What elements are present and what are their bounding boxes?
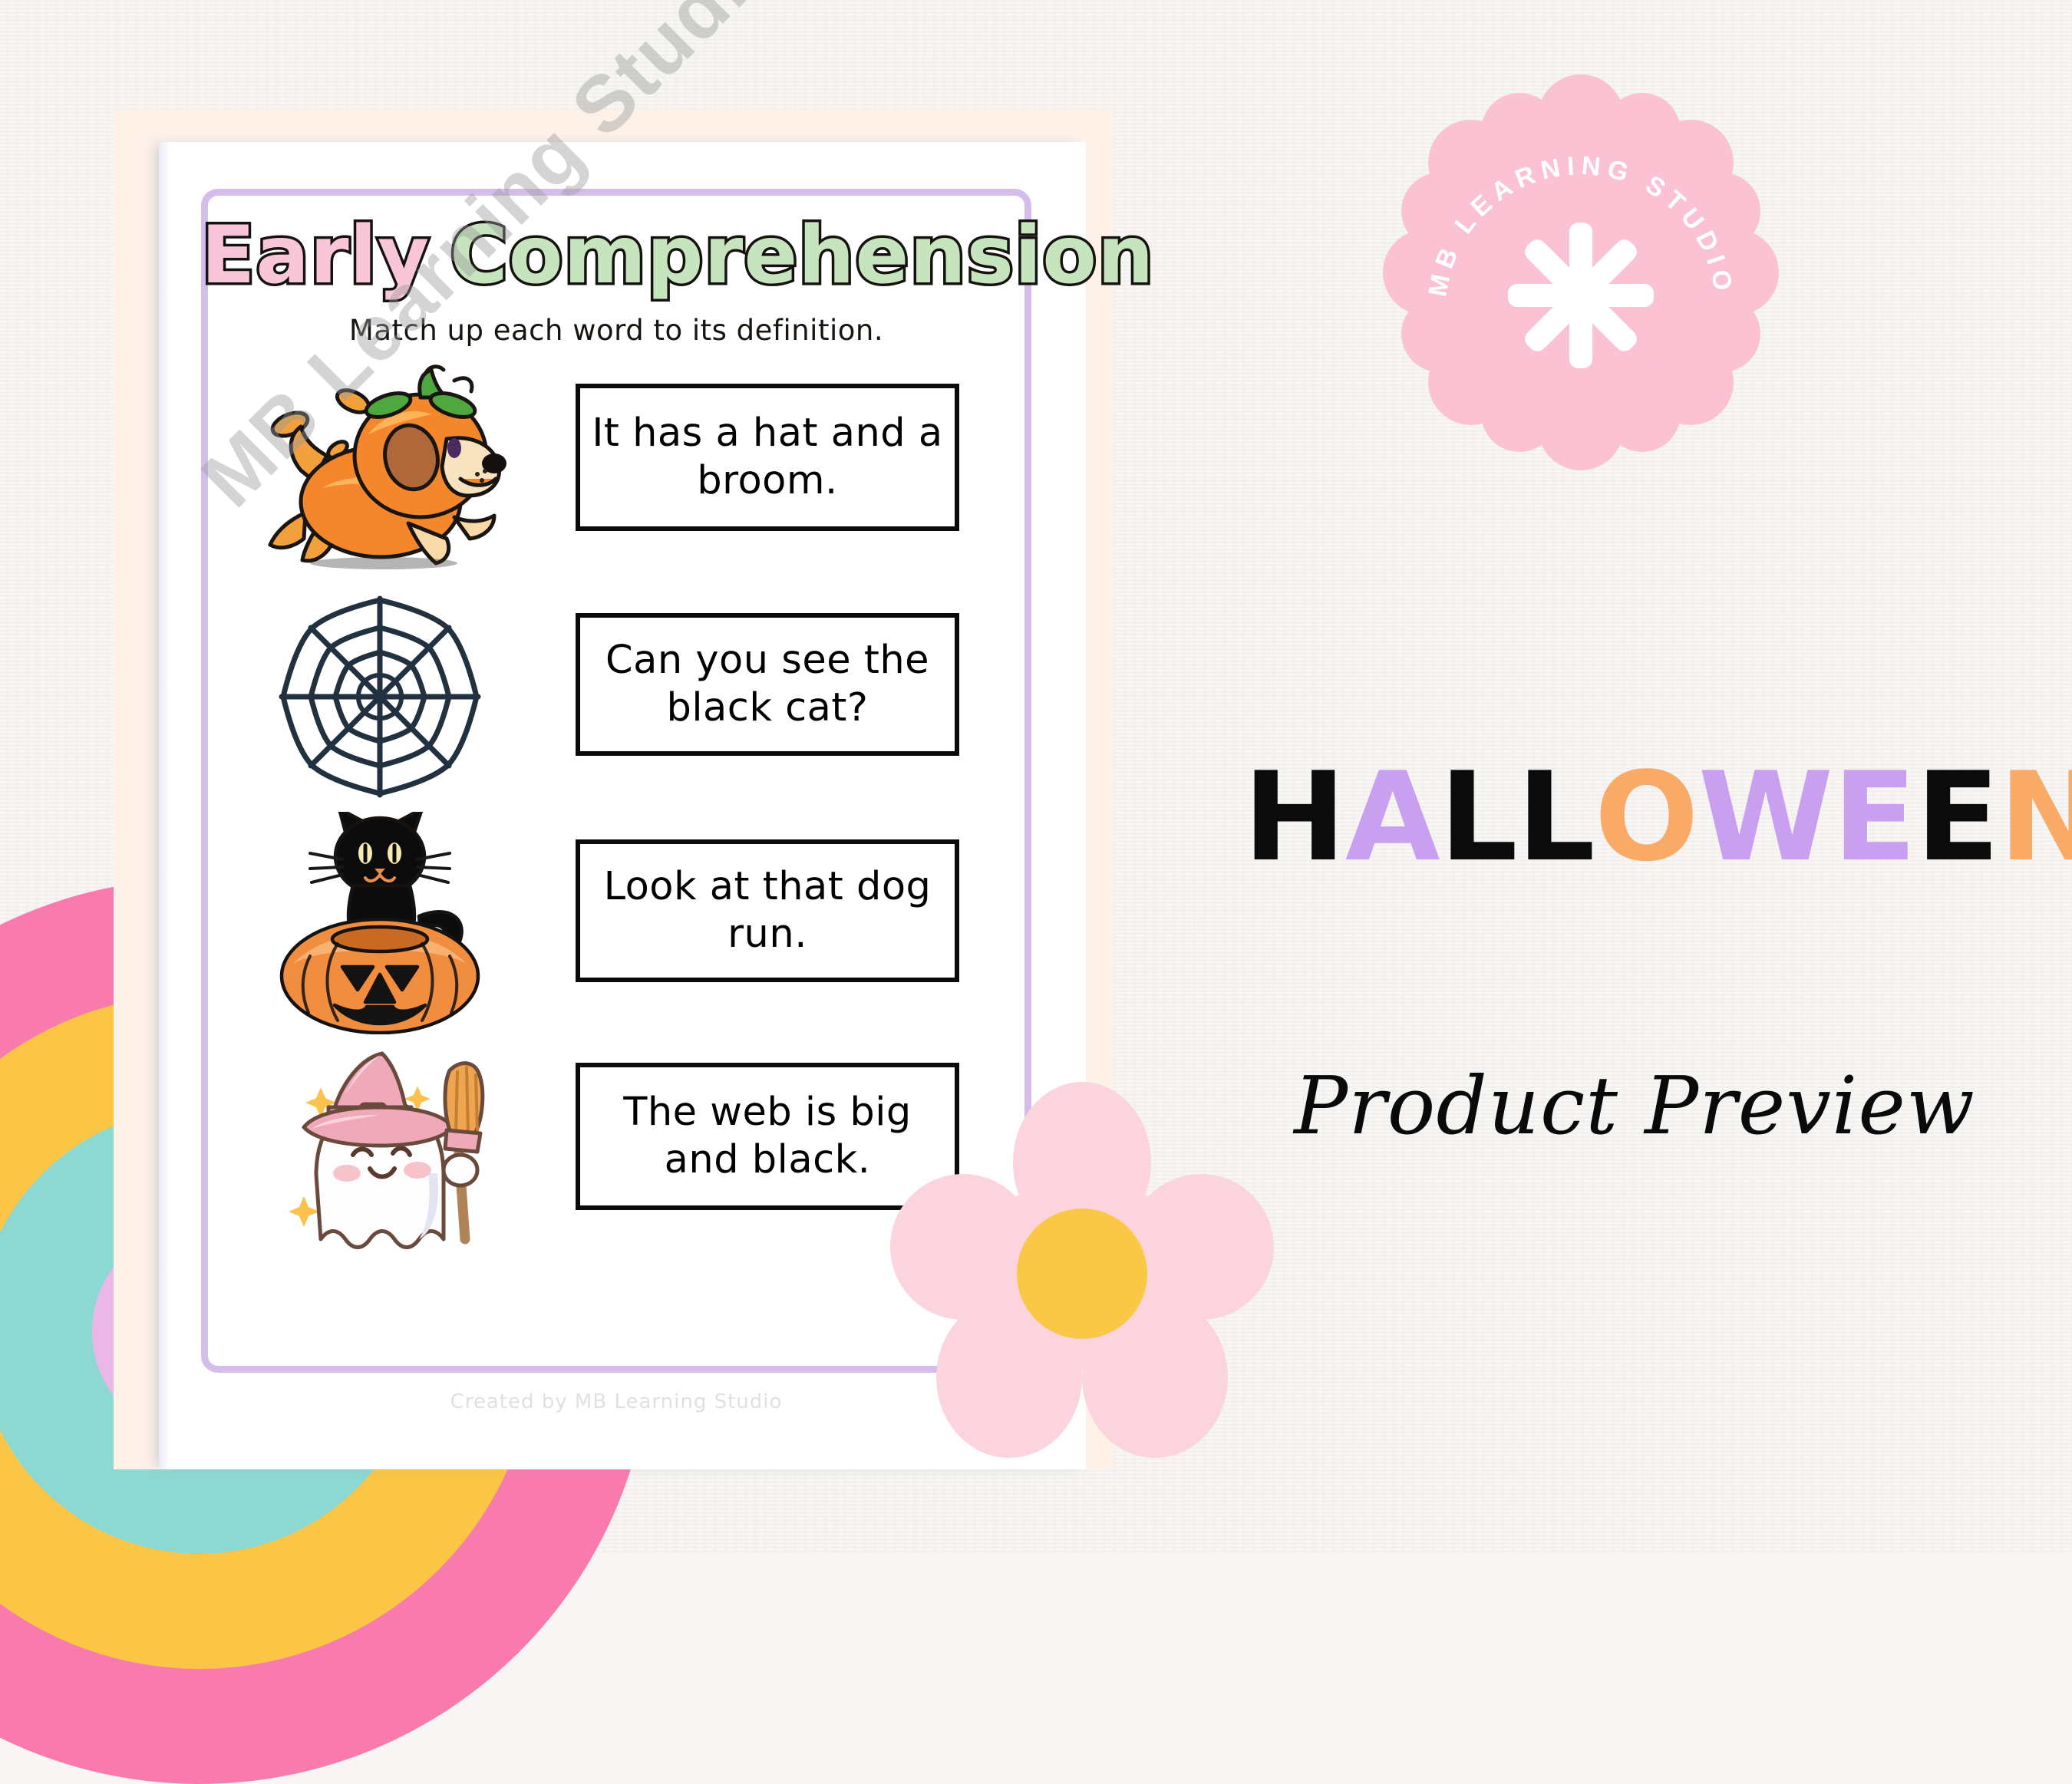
page-edge-shadow	[159, 142, 170, 1469]
worksheet-title: EarlyComprehension	[201, 216, 1031, 295]
matching-row: Can you see the black cat?	[230, 585, 1005, 812]
ghost-with-witch-hat-icon	[230, 1038, 530, 1261]
dog-in-pumpkin-costume-icon	[230, 359, 530, 582]
definition-box[interactable]: Look at that dog run.	[576, 839, 959, 982]
badge-scalloped-blob: MB LEARNING STUDIO	[1381, 73, 1780, 472]
flower-center	[1017, 1209, 1147, 1339]
black-cat-on-pumpkin-icon	[230, 812, 530, 1034]
halloween-letter-5: W	[1698, 756, 1833, 879]
matching-row: It has a hat and a broom.	[230, 359, 1005, 585]
title-word-comprehension: Comprehension	[450, 209, 1154, 302]
halloween-letter-4: O	[1595, 756, 1698, 879]
product-preview-label: Product Preview	[1228, 1059, 2041, 1153]
halloween-letter-0: H	[1243, 756, 1345, 879]
asterisk-star-icon	[1508, 223, 1654, 368]
matching-row: The web is big and black.	[230, 1038, 1005, 1265]
matching-rows: It has a hat and a broom.	[230, 359, 1005, 1265]
halloween-letter-8: N	[1999, 756, 2072, 879]
mb-learning-studio-badge: MB LEARNING STUDIO	[1381, 73, 1780, 472]
spider-web-icon	[230, 585, 530, 808]
matching-row: Look at that dog run.	[230, 812, 1005, 1038]
halloween-letter-3: L	[1517, 756, 1595, 879]
definition-box[interactable]: Can you see the black cat?	[576, 613, 959, 756]
halloween-letter-6: E	[1833, 756, 1915, 879]
title-word-early: Early	[201, 209, 430, 302]
halloween-letter-7: E	[1915, 756, 1998, 879]
flower-decoration	[890, 1082, 1274, 1466]
definition-box[interactable]: It has a hat and a broom.	[576, 384, 959, 531]
worksheet-subtitle: Match up each word to its definition.	[201, 314, 1031, 347]
halloween-title: HALLOWEEN	[1243, 756, 2026, 879]
halloween-letter-2: L	[1440, 756, 1517, 879]
halloween-letter-1: A	[1345, 756, 1440, 879]
